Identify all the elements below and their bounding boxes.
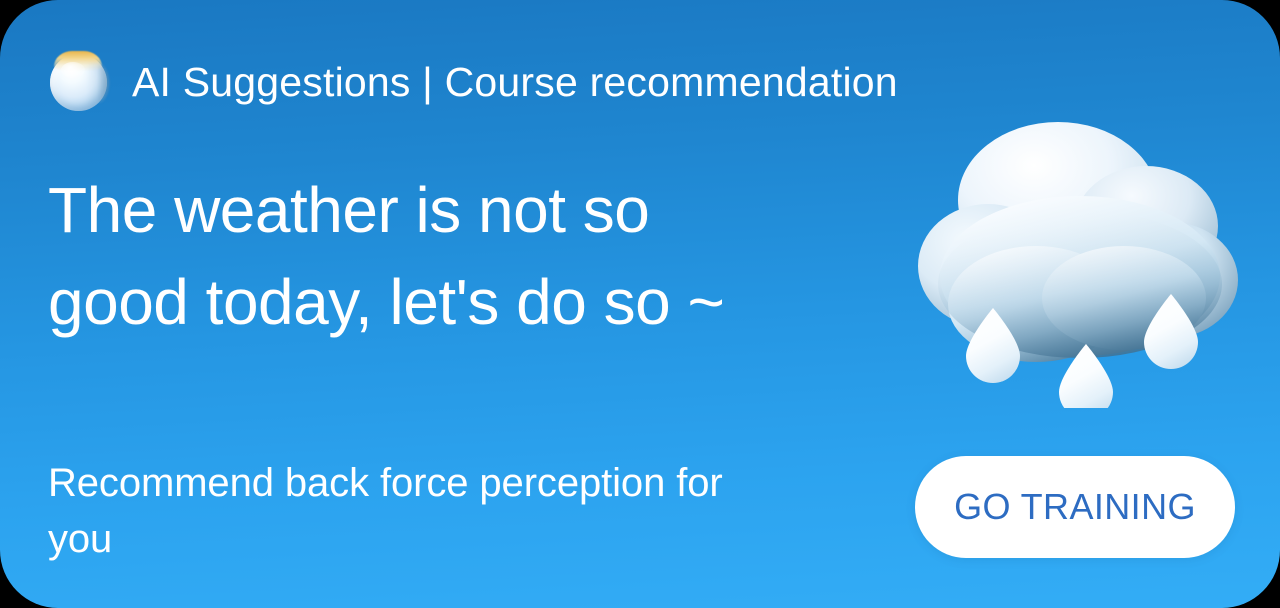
subtitle-line-1: Recommend back force perception for (48, 455, 878, 511)
bubble-shadow-shape (87, 63, 109, 103)
header-title: AI Suggestions | Course recommendation (132, 62, 898, 103)
headline: The weather is not so good today, let's … (48, 164, 868, 348)
card-header: AI Suggestions | Course recommendation (48, 46, 898, 118)
subtitle: Recommend back force perception for you (48, 455, 878, 567)
go-training-button[interactable]: GO TRAINING (915, 456, 1235, 558)
ai-bubble-icon (48, 51, 110, 113)
headline-line-2: good today, let's do so ~ (48, 256, 868, 348)
ai-suggestion-card: AI Suggestions | Course recommendation T… (0, 0, 1280, 608)
headline-line-1: The weather is not so (48, 164, 868, 256)
subtitle-line-2: you (48, 511, 878, 567)
rain-cloud-illustration (908, 108, 1252, 408)
bubble-highlight-shape (61, 62, 85, 78)
go-training-button-label: GO TRAINING (954, 486, 1196, 528)
